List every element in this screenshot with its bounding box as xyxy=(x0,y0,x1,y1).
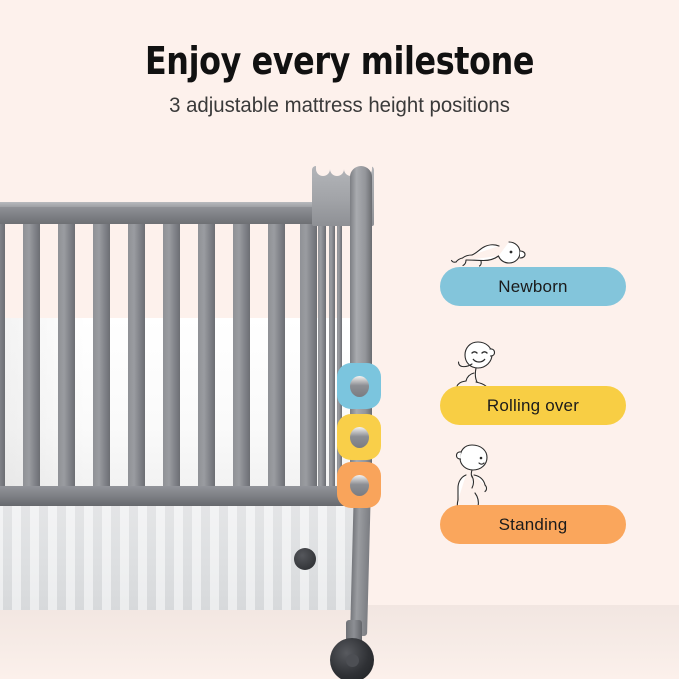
milestone-pill-rolling-over[interactable]: Rolling over xyxy=(440,386,626,425)
milestone-pill-standing[interactable]: Standing xyxy=(440,505,626,544)
product-feature-graphic: Enjoy every milestone 3 adjustable mattr… xyxy=(0,0,679,679)
milestone-label: Newborn xyxy=(498,277,567,297)
milestone-pill-newborn[interactable]: Newborn xyxy=(440,267,626,306)
milestone-label: Standing xyxy=(499,515,568,535)
milestone-list: Newborn Rolling over xyxy=(0,0,679,679)
milestone-label: Rolling over xyxy=(487,396,579,416)
